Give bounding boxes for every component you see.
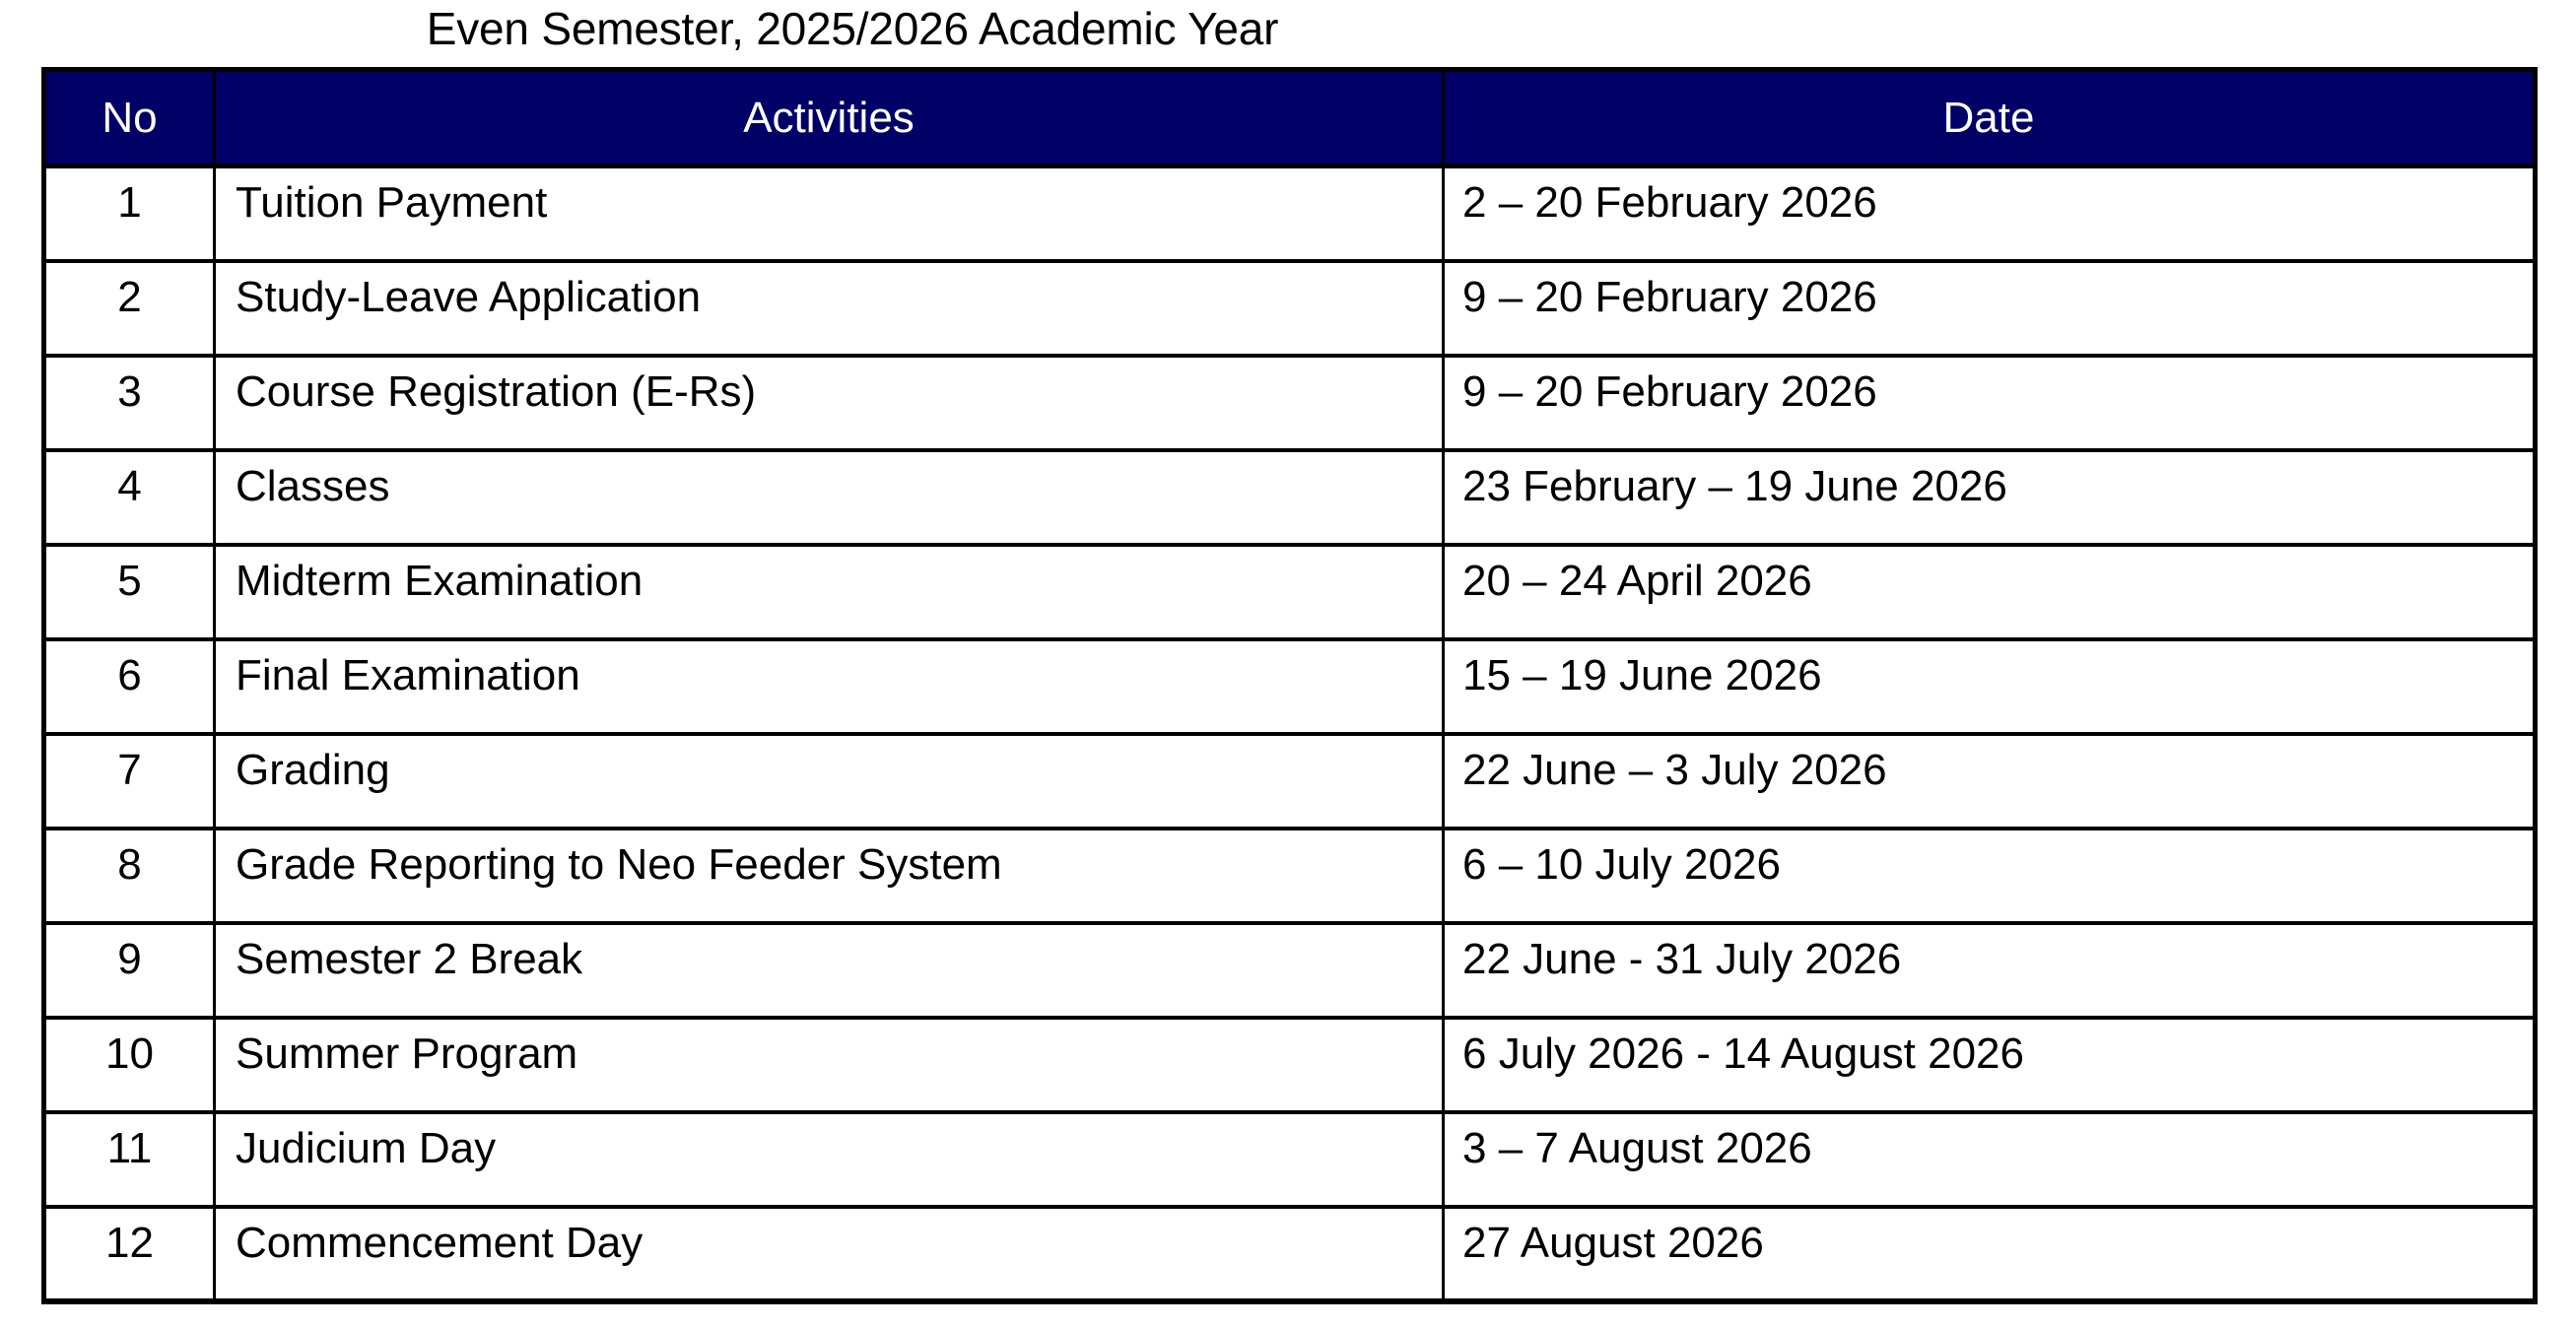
table-row: 10 Summer Program 6 July 2026 - 14 Augus… [44,1018,2536,1112]
table-row: 1 Tuition Payment 2 – 20 February 2026 [44,166,2536,261]
cell-date: 9 – 20 February 2026 [1444,356,2536,450]
table-header-row: No Activities Date [44,70,2536,166]
cell-no: 9 [44,923,215,1018]
cell-activity: Judicium Day [215,1112,1444,1207]
table-row: 9 Semester 2 Break 22 June - 31 July 202… [44,923,2536,1018]
academic-calendar-table-wrapper: No Activities Date 1 Tuition Payment 2 –… [41,67,2533,1304]
cell-activity: Classes [215,450,1444,545]
table-row: 6 Final Examination 15 – 19 June 2026 [44,639,2536,734]
cell-activity: Grade Reporting to Neo Feeder System [215,829,1444,923]
cell-activity: Study-Leave Application [215,261,1444,356]
cell-date: 15 – 19 June 2026 [1444,639,2536,734]
academic-calendar-table: No Activities Date 1 Tuition Payment 2 –… [41,67,2538,1304]
cell-date: 3 – 7 August 2026 [1444,1112,2536,1207]
cell-activity: Course Registration (E-Rs) [215,356,1444,450]
academic-calendar-page: Even Semester, 2025/2026 Academic Year N… [0,0,2576,1328]
cell-date: 20 – 24 April 2026 [1444,545,2536,639]
column-header-activities: Activities [215,70,1444,166]
cell-no: 7 [44,734,215,829]
cell-date: 9 – 20 February 2026 [1444,261,2536,356]
table-row: 4 Classes 23 February – 19 June 2026 [44,450,2536,545]
column-header-date: Date [1444,70,2536,166]
table-row: 11 Judicium Day 3 – 7 August 2026 [44,1112,2536,1207]
cell-activity: Grading [215,734,1444,829]
table-row: 8 Grade Reporting to Neo Feeder System 6… [44,829,2536,923]
cell-date: 23 February – 19 June 2026 [1444,450,2536,545]
cell-no: 2 [44,261,215,356]
cell-no: 12 [44,1207,215,1301]
cell-no: 1 [44,166,215,261]
cell-activity: Final Examination [215,639,1444,734]
table-row: 5 Midterm Examination 20 – 24 April 2026 [44,545,2536,639]
page-title: Even Semester, 2025/2026 Academic Year [0,2,1705,55]
cell-no: 11 [44,1112,215,1207]
column-header-no: No [44,70,215,166]
table-body: 1 Tuition Payment 2 – 20 February 2026 2… [44,166,2536,1301]
table-row: 2 Study-Leave Application 9 – 20 Februar… [44,261,2536,356]
table-row: 3 Course Registration (E-Rs) 9 – 20 Febr… [44,356,2536,450]
cell-activity: Midterm Examination [215,545,1444,639]
cell-no: 6 [44,639,215,734]
table-row: 12 Commencement Day 27 August 2026 [44,1207,2536,1301]
cell-date: 27 August 2026 [1444,1207,2536,1301]
cell-no: 5 [44,545,215,639]
cell-date: 22 June - 31 July 2026 [1444,923,2536,1018]
cell-activity: Summer Program [215,1018,1444,1112]
cell-date: 6 July 2026 - 14 August 2026 [1444,1018,2536,1112]
cell-date: 2 – 20 February 2026 [1444,166,2536,261]
cell-date: 22 June – 3 July 2026 [1444,734,2536,829]
cell-date: 6 – 10 July 2026 [1444,829,2536,923]
cell-no: 8 [44,829,215,923]
cell-activity: Tuition Payment [215,166,1444,261]
cell-activity: Semester 2 Break [215,923,1444,1018]
cell-no: 10 [44,1018,215,1112]
table-row: 7 Grading 22 June – 3 July 2026 [44,734,2536,829]
cell-activity: Commencement Day [215,1207,1444,1301]
cell-no: 4 [44,450,215,545]
table-header: No Activities Date [44,70,2536,166]
cell-no: 3 [44,356,215,450]
